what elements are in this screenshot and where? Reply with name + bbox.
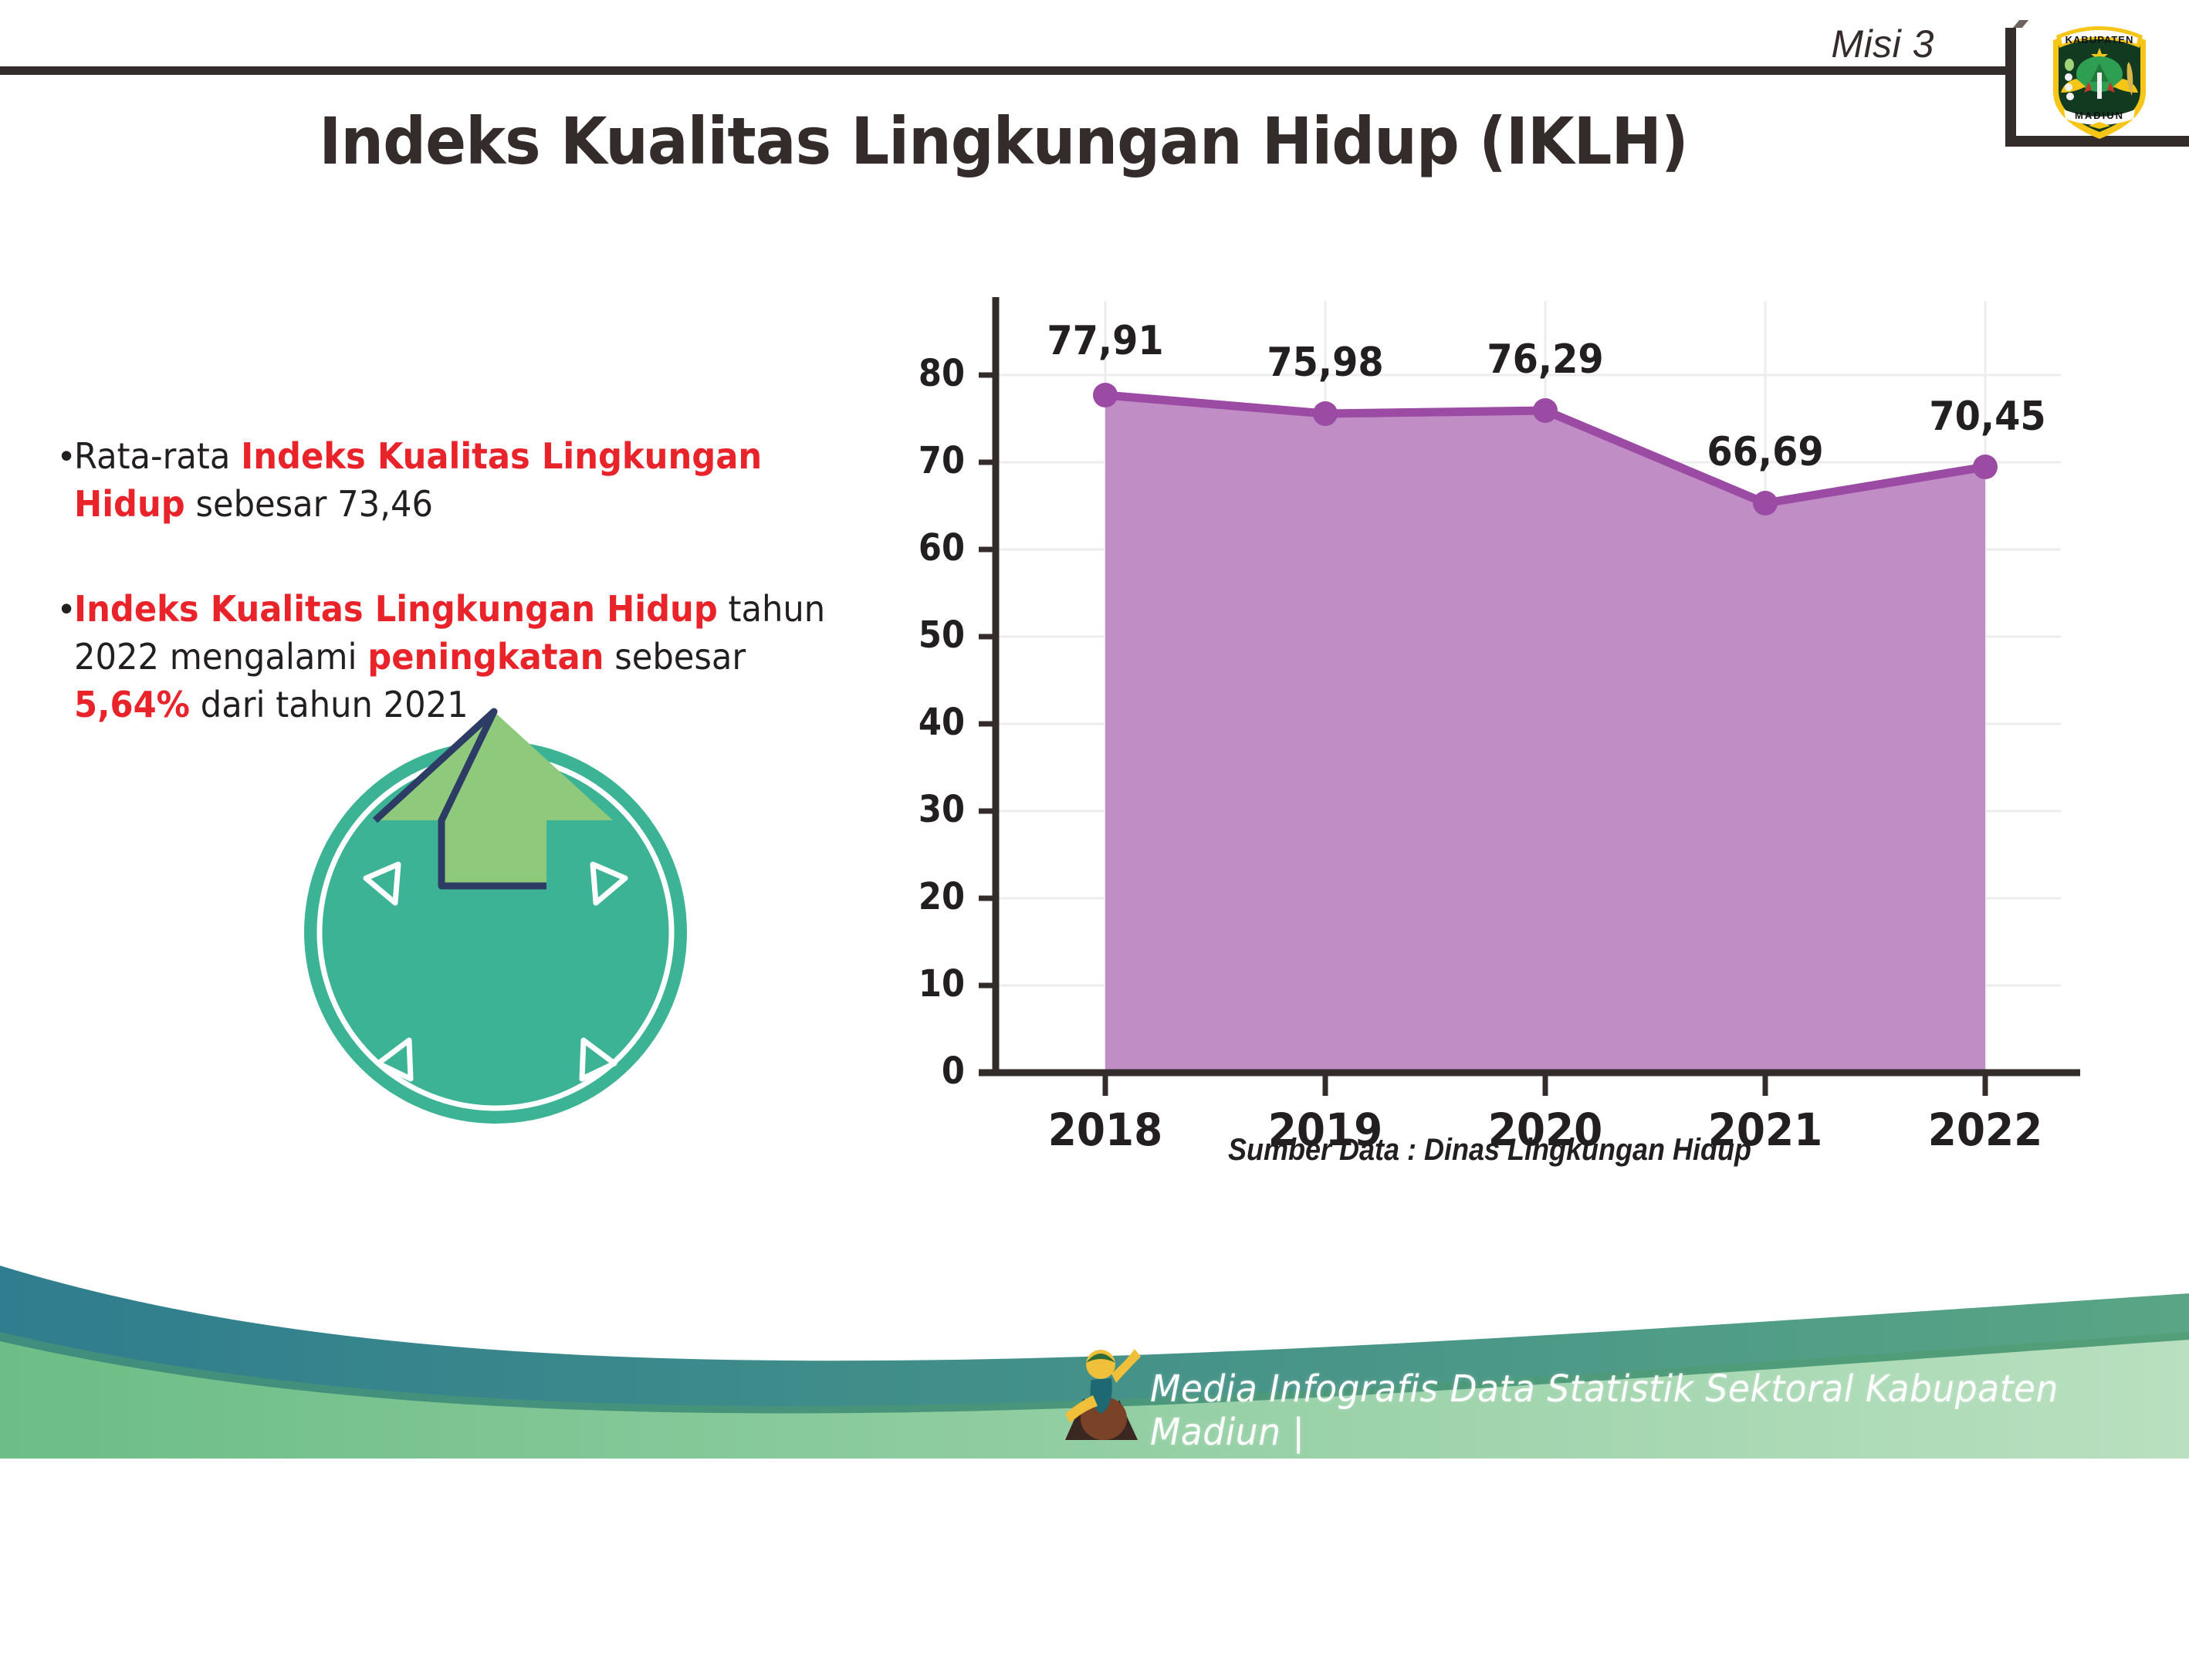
y-tick-label: 50	[888, 614, 965, 657]
bullet-item: • Rata-rata Indeks Kualitas Lingkungan H…	[60, 432, 917, 528]
bullet-segment-highlight: 5,64%	[74, 684, 190, 725]
page-title: Indeks Kualitas Lingkungan Hidup (IKLH)	[70, 103, 1937, 179]
svg-text:MADIUN: MADIUN	[2075, 110, 2124, 121]
kabupaten-madiun-emblem-icon: KABUPATEN MADIUN	[2044, 19, 2155, 142]
y-tick-label: 20	[888, 875, 965, 918]
corner-bracket-shadow	[2013, 20, 2028, 28]
y-tick-label: 80	[888, 352, 965, 395]
bullet-marker: •	[60, 432, 73, 478]
footer-text: Media Infografis Data Statistik Sektoral…	[1150, 1367, 2137, 1454]
corner-bracket-vertical	[2005, 28, 2016, 147]
mission-label: Misi 3	[1831, 22, 1934, 66]
bullet-segment-highlight: peningkatan	[367, 636, 604, 678]
svg-text:KABUPATEN: KABUPATEN	[2066, 34, 2134, 46]
bullet-marker: •	[60, 585, 73, 631]
media-infografis-logo-icon	[1061, 1332, 1144, 1445]
data-label: 77,91	[1023, 318, 1187, 364]
source-note: Sumber Data : Dinas Lingkungan Hidup	[948, 1133, 2032, 1168]
y-tick-label: 10	[888, 962, 965, 1006]
data-label: 76,29	[1463, 336, 1627, 383]
data-label: 70,45	[1906, 394, 2069, 440]
y-tick-label: 0	[888, 1050, 965, 1093]
header-rule	[0, 66, 2008, 75]
bullet-segment: sebesar	[604, 636, 746, 678]
y-tick-label: 30	[888, 788, 965, 831]
data-label: 75,98	[1243, 340, 1407, 386]
bullet-text: Rata-rata Indeks Kualitas Lingkungan Hid…	[74, 432, 866, 528]
badge-value: 10,5%	[301, 1573, 733, 1680]
y-tick-label: 60	[888, 526, 965, 570]
bullet-segment-highlight: Indeks Kualitas Lingkungan Hidup	[74, 588, 718, 630]
bullet-segment: Rata-rata	[74, 435, 241, 477]
increase-badge: 10,5%	[301, 701, 718, 1125]
data-label: 66,69	[1683, 429, 1847, 475]
chart-area-fill	[1105, 395, 1985, 1073]
y-tick-label: 40	[888, 701, 965, 744]
iklh-area-chart: 80 70 60 50 40 30 20 10 0 77,91 75,98 76…	[888, 255, 2092, 1104]
bullet-segment: sebesar 73,46	[185, 483, 433, 525]
y-tick-label: 70	[888, 439, 965, 482]
